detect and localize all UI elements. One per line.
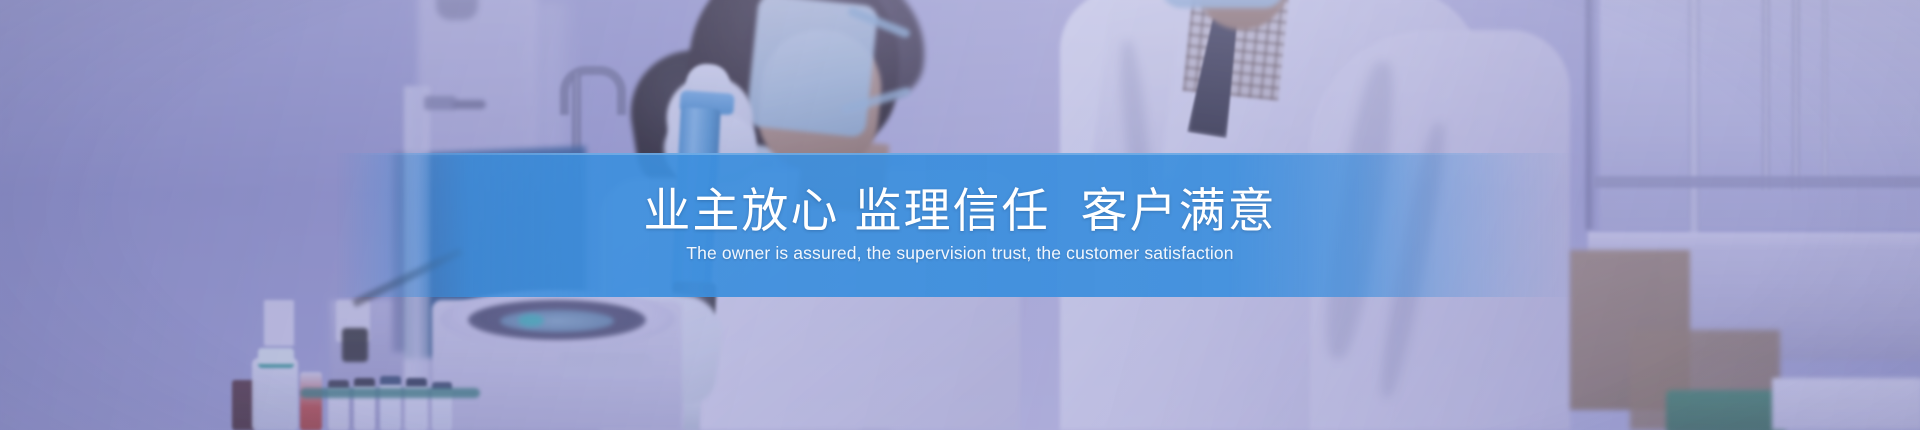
hero-banner: 业主放心 监理信任 客户满意 The owner is assured, the… bbox=[0, 0, 1920, 430]
banner-subheadline: The owner is assured, the supervision tr… bbox=[686, 242, 1233, 265]
caption-text-group: 业主放心 监理信任 客户满意 The owner is assured, the… bbox=[0, 153, 1920, 297]
banner-headline: 业主放心 监理信任 客户满意 bbox=[643, 185, 1276, 238]
